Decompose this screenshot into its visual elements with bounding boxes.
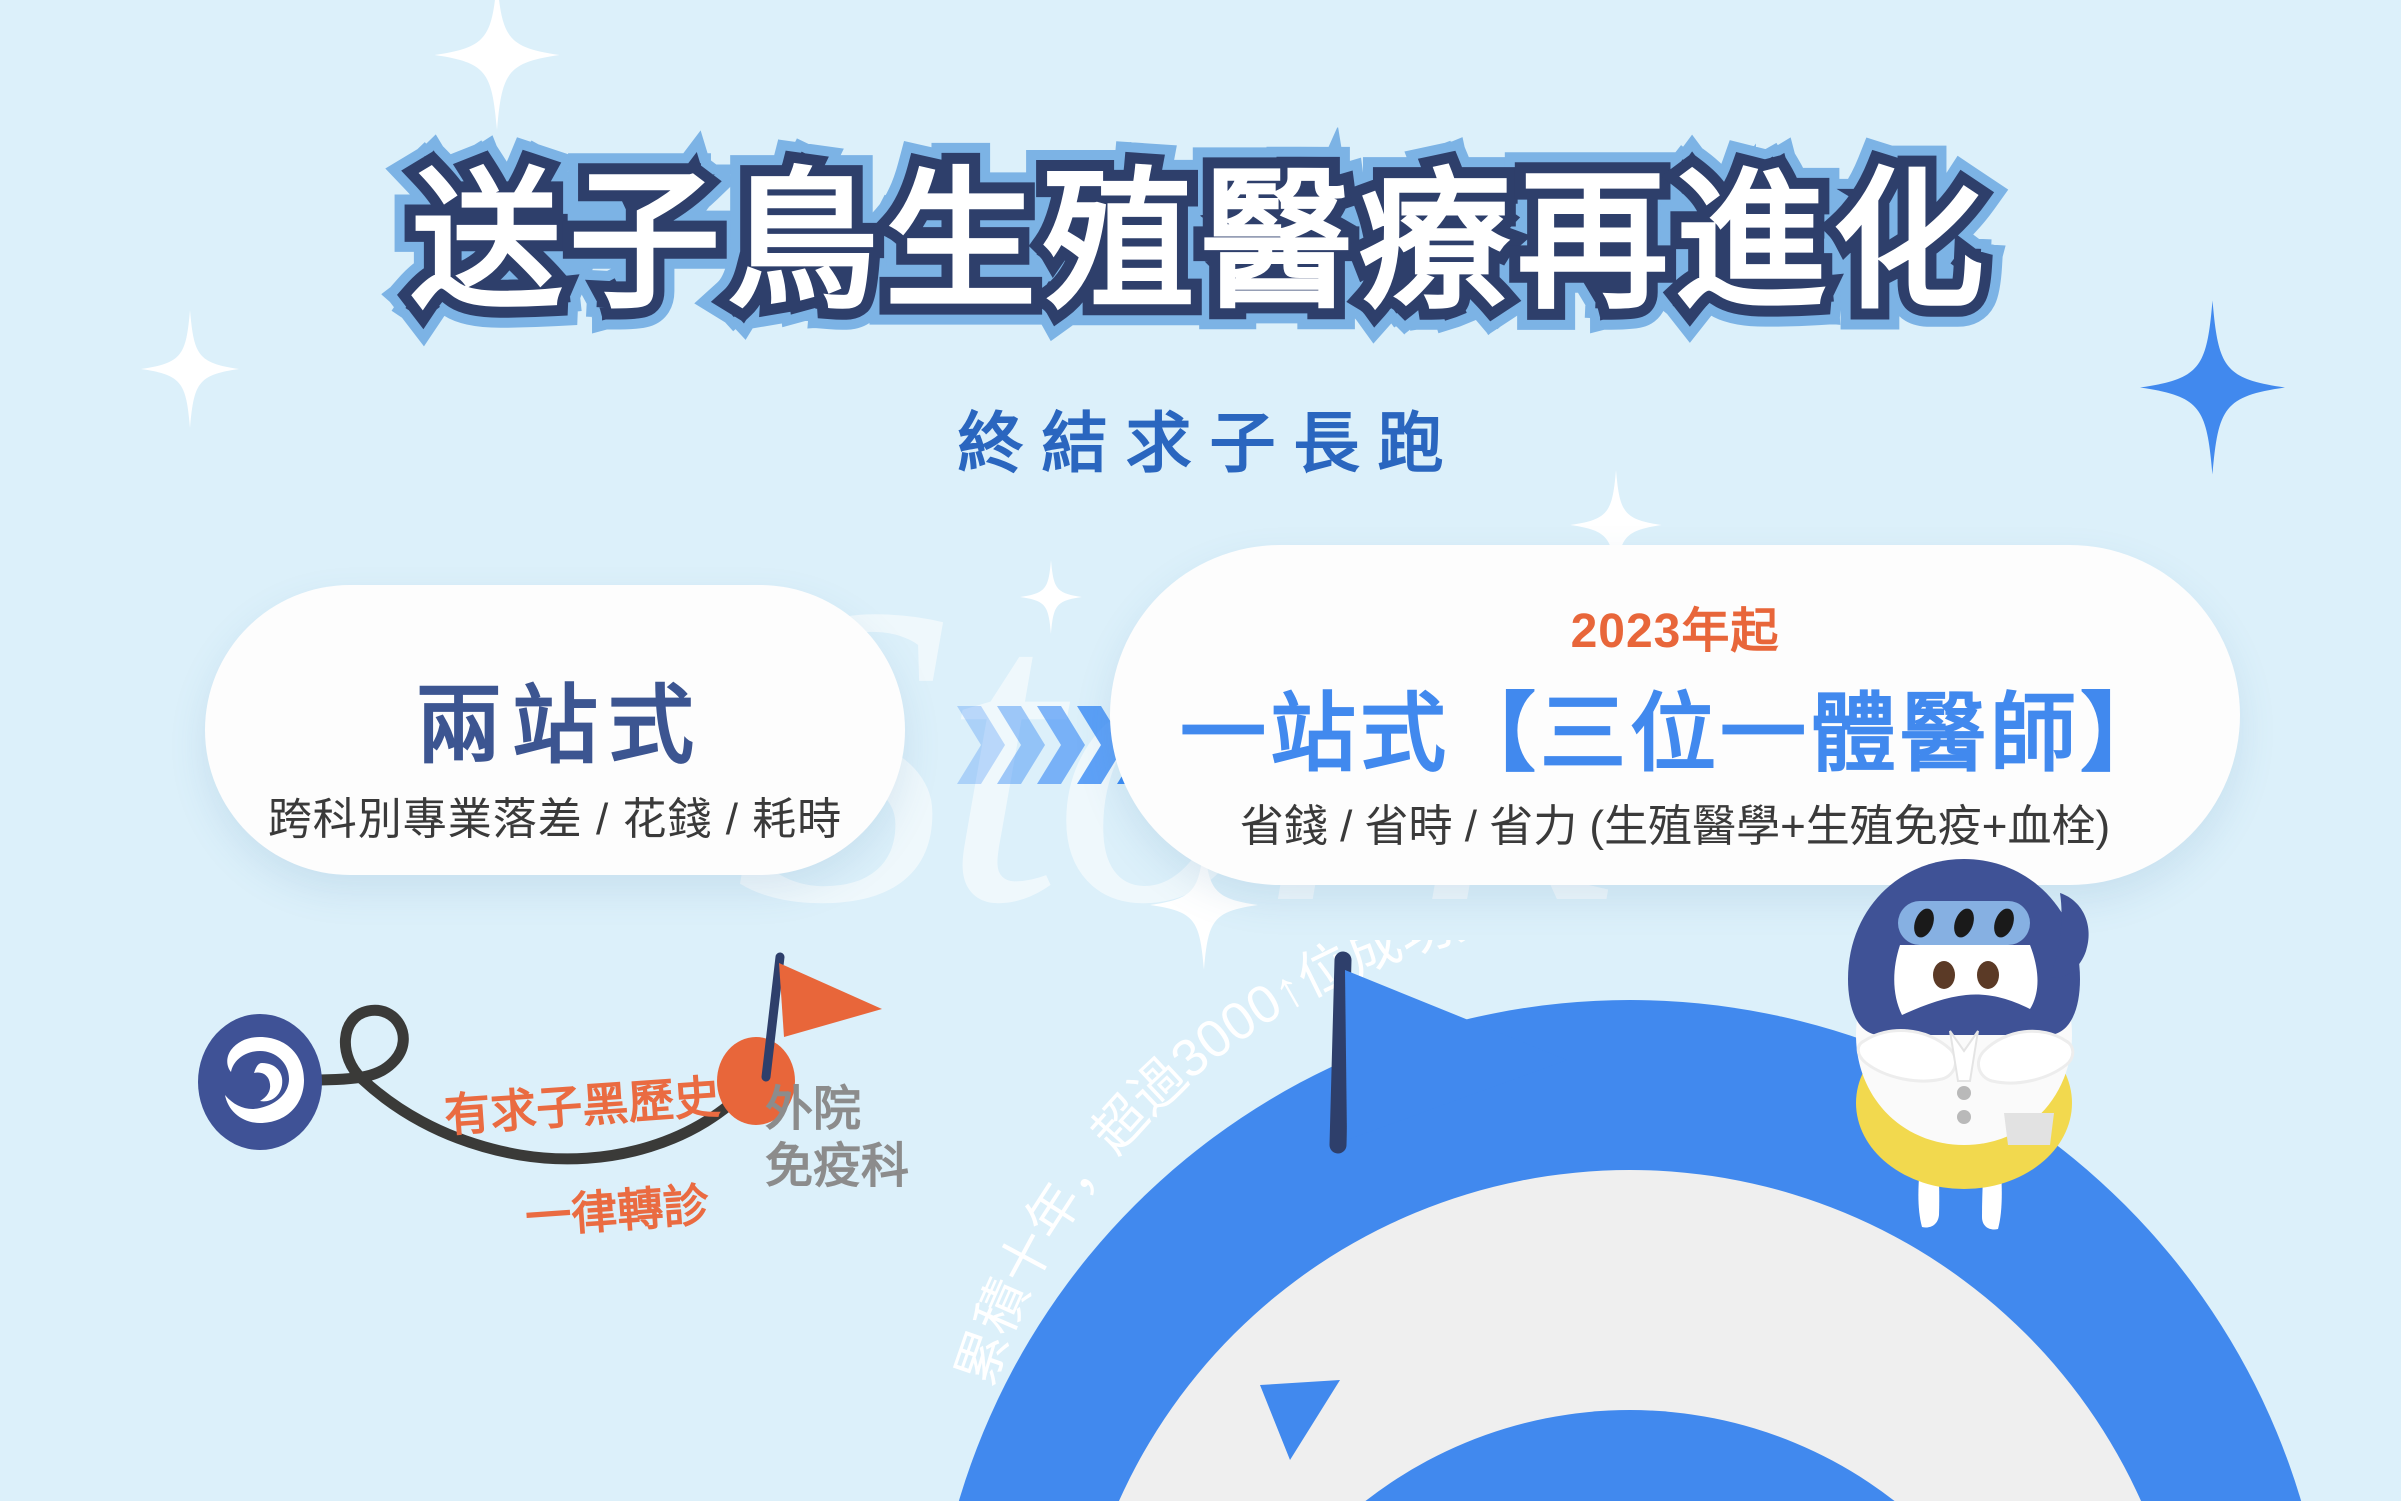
old-model-title: 兩站式 [205, 655, 905, 780]
stork-embryo-logo [198, 1014, 322, 1150]
page-title-block: 送子鳥生殖醫療再進化 送子鳥生殖醫療再進化 [0, 118, 2401, 338]
mascot-eye-left [1933, 961, 1955, 989]
page-title: 送子鳥生殖醫療再進化 [411, 118, 1991, 338]
mascot-pocket [2004, 1113, 2054, 1145]
new-model-badge: 2023年起 [1110, 591, 2240, 661]
sparkle-white-top-left [432, 0, 562, 130]
mascot-button-1 [1957, 1086, 1971, 1100]
globe-flag-pole [1338, 960, 1343, 1145]
new-model-title: 一站式【三位一體醫師】 [1110, 663, 2240, 788]
old-model-subtitle: 跨科別專業落差 / 花錢 / 耗時 [205, 783, 905, 847]
stork-doctor-mascot [1792, 835, 2142, 1235]
infographic-canvas: Stork 送子鳥生殖醫療再進化 送子鳥生殖醫療再進化 終結求子長跑 兩站式 跨… [0, 0, 2401, 1501]
page-subtitle: 終結求子長跑 [0, 390, 2401, 486]
old-model-card: 兩站式 跨科別專業落差 / 花錢 / 耗時 [205, 585, 905, 875]
mascot-button-2 [1957, 1110, 1971, 1124]
mascot-eye-right [1977, 961, 1999, 989]
success-globe: 累積十年，超過3000↑位成功案例數據佐證 [875, 940, 2401, 1501]
new-model-card: 2023年起 一站式【三位一體醫師】 省錢 / 省時 / 省力 (生殖醫學+生殖… [1110, 545, 2240, 885]
destination-flag [779, 963, 882, 1037]
referral-note-bottom: 一律轉診 [523, 1169, 711, 1248]
mascot-cap-marks [1910, 906, 2017, 940]
